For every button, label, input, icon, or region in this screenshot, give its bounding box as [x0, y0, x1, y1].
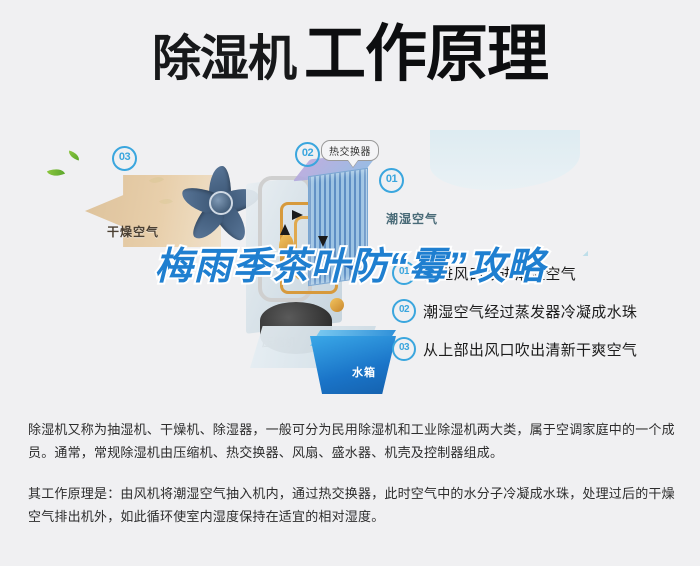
infographic-page: 除湿机工作原理 干燥空气 03 [0, 0, 700, 566]
humid-air-label: 潮湿空气 [386, 210, 438, 227]
process-steps-list: 01 由进风口吸进潮湿空气 02 潮湿空气经过蒸发器冷凝成水珠 03 从上部出风… [392, 254, 692, 368]
airflow-arrow-up-icon [280, 224, 290, 235]
list-item: 02 潮湿空气经过蒸发器冷凝成水珠 [392, 292, 692, 330]
airflow-arrow-right-icon [292, 210, 303, 220]
diagram-badge-01: 01 [379, 168, 404, 193]
list-item: 01 由进风口吸进潮湿空气 [392, 254, 692, 292]
page-title-part1: 除湿机 [152, 32, 296, 86]
step-label: 由进风口吸进潮湿空气 [423, 263, 576, 284]
fan-hub [209, 191, 233, 215]
leaf-icon [47, 165, 65, 179]
diagram-badge-02: 02 [295, 142, 320, 167]
copper-fitting [330, 298, 344, 312]
dry-air-label: 干燥空气 [107, 223, 159, 240]
intake-arrow-icon [342, 258, 356, 272]
copper-fitting [279, 234, 294, 260]
list-item: 03 从上部出风口吹出清新干爽空气 [392, 330, 692, 368]
body-paragraph-2: 其工作原理是：由风机将潮湿空气抽入机内，通过热交换器，此时空气中的水分子冷凝成水… [28, 482, 676, 528]
step-number-badge: 03 [392, 337, 416, 361]
step-number-badge: 01 [392, 261, 416, 285]
leaf-icon [67, 150, 80, 160]
water-tank-label: 水箱 [352, 364, 376, 380]
body-paragraph-1: 除湿机又称为抽湿机、干燥机、除湿器，一般可分为民用除湿机和工业除湿机两大类，属于… [28, 418, 676, 464]
step-number-badge: 02 [392, 299, 416, 323]
step-label: 从上部出风口吹出清新干爽空气 [423, 339, 637, 360]
heat-exchanger-callout: 热交换器 [321, 140, 379, 161]
diagram-badge-03: 03 [112, 146, 137, 171]
step-label: 潮湿空气经过蒸发器冷凝成水珠 [423, 301, 637, 322]
article-body: 除湿机又称为抽湿机、干燥机、除湿器，一般可分为民用除湿机和工业除湿机两大类，属于… [28, 418, 676, 546]
airflow-arrow-down-icon [318, 236, 328, 247]
page-title: 除湿机工作原理 [0, 24, 700, 86]
page-title-part2: 工作原理 [304, 20, 548, 89]
heat-exchanger-fins [308, 168, 368, 286]
